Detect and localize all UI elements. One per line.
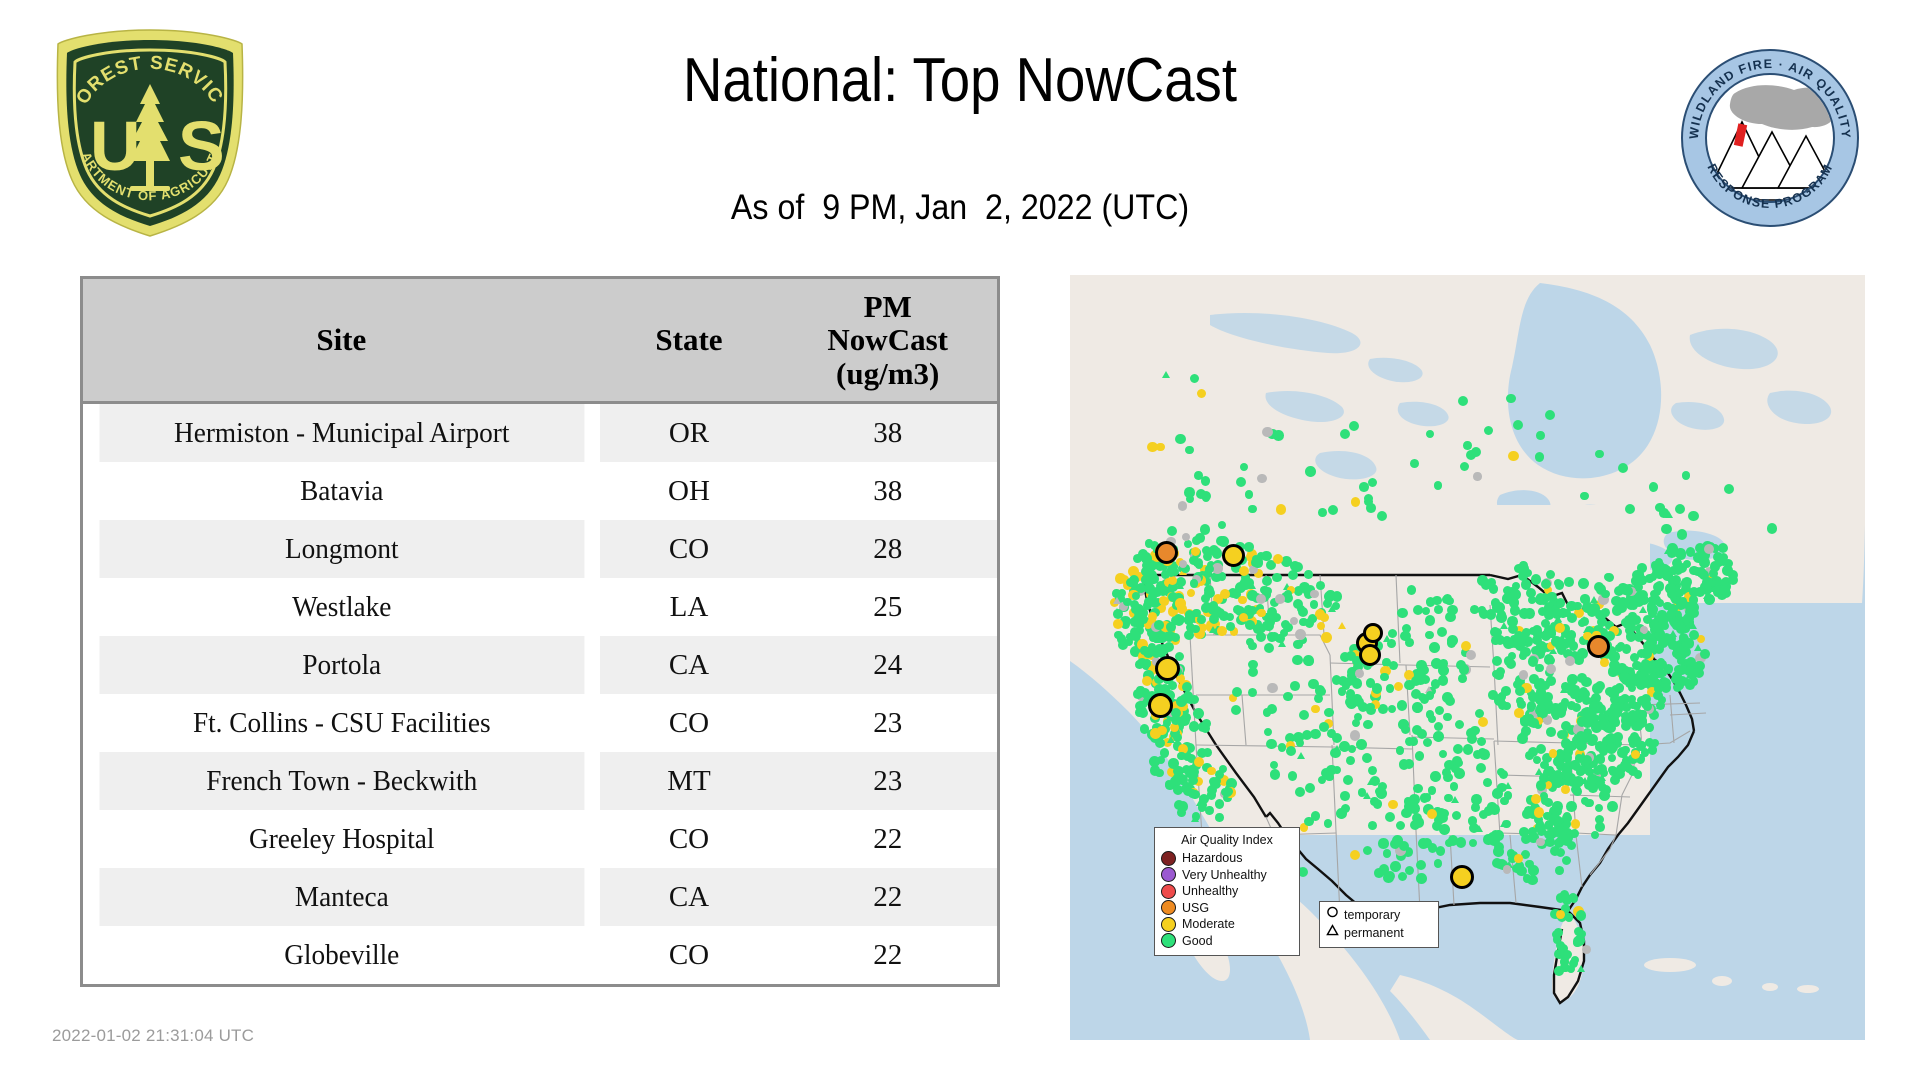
monitor-dot-good[interactable] (1492, 858, 1502, 868)
monitor-dot-good[interactable] (1411, 676, 1421, 686)
monitor-dot-good[interactable] (1445, 839, 1453, 847)
monitor-dot-good[interactable] (1251, 558, 1259, 566)
monitor-dot-good[interactable] (1290, 681, 1300, 691)
monitor-dot-good[interactable] (1215, 813, 1224, 822)
monitor-dot-good[interactable] (1492, 670, 1501, 679)
monitor-dot-good[interactable] (1577, 673, 1587, 683)
monitor-dot-moderate[interactable] (1388, 800, 1397, 809)
monitor-dot-offline[interactable] (1355, 669, 1364, 678)
monitor-dot-good[interactable] (1380, 673, 1389, 682)
monitor-dot-good[interactable] (1165, 634, 1173, 642)
monitor-dot-good[interactable] (1413, 784, 1422, 793)
monitor-dot-good[interactable] (1398, 872, 1407, 881)
monitor-dot-good[interactable] (1113, 609, 1123, 619)
monitor-dot-moderate[interactable] (1549, 749, 1557, 757)
monitor-dot-good[interactable] (1546, 727, 1556, 737)
monitor-dot-good[interactable] (1385, 812, 1395, 822)
monitor-dot-good[interactable] (1541, 681, 1550, 690)
monitor-dot-good[interactable] (1443, 773, 1453, 783)
top-site-marker-french-town-beckwith[interactable] (1222, 544, 1245, 567)
monitor-dot-good[interactable] (1356, 739, 1367, 750)
monitor-dot-moderate[interactable] (1148, 612, 1157, 621)
monitor-dot-moderate[interactable] (1631, 750, 1640, 759)
monitor-dot-good[interactable] (1551, 710, 1559, 718)
monitor-dot-offline[interactable] (1473, 472, 1481, 480)
monitor-dot-good[interactable] (1519, 652, 1527, 660)
monitor-dot-good[interactable] (1638, 677, 1649, 688)
monitor-dot-good[interactable] (1390, 861, 1401, 872)
monitor-dot-good[interactable] (1163, 719, 1171, 727)
top-site-marker-hermiston[interactable] (1155, 541, 1178, 564)
monitor-dot-good[interactable] (1200, 524, 1211, 535)
monitor-dot-good[interactable] (1471, 803, 1480, 812)
monitor-dot-good[interactable] (1487, 835, 1497, 845)
monitor-dot-good[interactable] (1388, 629, 1397, 638)
monitor-dot-good[interactable] (1487, 802, 1497, 812)
monitor-dot-good[interactable] (1248, 688, 1257, 697)
monitor-dot-good[interactable] (1185, 446, 1193, 454)
monitor-dot-good[interactable] (1388, 705, 1397, 714)
monitor-dot-good[interactable] (1190, 790, 1199, 799)
monitor-dot-good[interactable] (1628, 623, 1636, 631)
monitor-dot-moderate[interactable] (1150, 728, 1161, 739)
monitor-dot-good[interactable] (1556, 600, 1564, 608)
monitor-dot-good[interactable] (1606, 743, 1617, 754)
monitor-dot-good[interactable] (1416, 860, 1426, 870)
monitor-dot-moderate[interactable] (1321, 632, 1332, 643)
monitor-dot-good[interactable] (1700, 649, 1710, 659)
monitor-dot-good[interactable] (1608, 754, 1617, 763)
monitor-dot-good[interactable] (1569, 641, 1578, 650)
permanent-monitor-marker[interactable] (1664, 547, 1672, 554)
monitor-dot-good[interactable] (1513, 420, 1524, 431)
monitor-dot-good[interactable] (1458, 674, 1467, 683)
monitor-dot-good[interactable] (1547, 592, 1556, 601)
monitor-dot-good[interactable] (1270, 769, 1281, 780)
monitor-dot-good[interactable] (1595, 681, 1605, 691)
monitor-dot-good[interactable] (1193, 708, 1204, 719)
monitor-dot-offline[interactable] (1275, 594, 1285, 604)
monitor-dot-moderate[interactable] (1194, 757, 1204, 767)
monitor-dot-good[interactable] (1469, 839, 1477, 847)
monitor-dot-good[interactable] (1625, 504, 1635, 514)
monitor-dot-good[interactable] (1463, 744, 1474, 755)
monitor-dot-good[interactable] (1621, 746, 1630, 755)
monitor-dot-moderate[interactable] (1187, 589, 1195, 597)
monitor-dot-good[interactable] (1436, 846, 1446, 856)
monitor-dot-good[interactable] (1489, 584, 1499, 594)
monitor-dot-good[interactable] (1709, 569, 1718, 578)
monitor-dot-good[interactable] (1629, 601, 1638, 610)
monitor-dot-good[interactable] (1246, 621, 1254, 629)
monitor-dot-offline[interactable] (1178, 501, 1188, 511)
monitor-dot-good[interactable] (1363, 720, 1372, 729)
monitor-dot-good[interactable] (1362, 753, 1372, 763)
monitor-dot-moderate[interactable] (1600, 658, 1609, 667)
monitor-dot-offline[interactable] (1503, 865, 1511, 873)
monitor-dot-good[interactable] (1236, 477, 1247, 488)
monitor-dot-good[interactable] (1460, 462, 1469, 471)
monitor-dot-good[interactable] (1689, 566, 1698, 575)
monitor-dot-good[interactable] (1492, 788, 1503, 799)
monitor-dot-good[interactable] (1215, 799, 1224, 808)
monitor-dot-moderate[interactable] (1571, 819, 1581, 829)
monitor-dot-good[interactable] (1637, 563, 1647, 573)
monitor-dot-good[interactable] (1404, 759, 1414, 769)
monitor-dot-good[interactable] (1354, 713, 1362, 721)
monitor-dot-good[interactable] (1444, 794, 1452, 802)
monitor-dot-good[interactable] (1359, 482, 1369, 492)
monitor-dot-good[interactable] (1139, 659, 1148, 668)
permanent-monitor-marker[interactable] (1113, 597, 1121, 604)
monitor-dot-good[interactable] (1661, 524, 1672, 535)
monitor-dot-good[interactable] (1130, 631, 1141, 642)
monitor-dot-good[interactable] (1114, 631, 1123, 640)
monitor-dot-good[interactable] (1248, 505, 1256, 513)
monitor-dot-good[interactable] (1491, 636, 1500, 645)
monitor-dot-good[interactable] (1304, 570, 1313, 579)
monitor-dot-good[interactable] (1192, 812, 1200, 820)
monitor-dot-good[interactable] (1332, 675, 1341, 684)
monitor-dot-good[interactable] (1677, 529, 1688, 540)
monitor-dot-good[interactable] (1562, 894, 1573, 905)
monitor-dot-good[interactable] (1562, 766, 1572, 776)
monitor-dot-good[interactable] (1533, 630, 1543, 640)
monitor-dot-good[interactable] (1562, 813, 1572, 823)
monitor-dot-good[interactable] (1368, 478, 1378, 488)
monitor-dot-good[interactable] (1195, 533, 1204, 542)
monitor-dot-good[interactable] (1443, 713, 1452, 722)
monitor-dot-good[interactable] (1154, 620, 1164, 630)
monitor-dot-good[interactable] (1454, 768, 1465, 779)
monitor-dot-good[interactable] (1577, 648, 1588, 659)
monitor-dot-good[interactable] (1621, 721, 1631, 731)
monitor-dot-good[interactable] (1232, 687, 1242, 697)
monitor-dot-good[interactable] (1439, 750, 1448, 759)
monitor-dot-moderate[interactable] (1175, 598, 1186, 609)
monitor-dot-moderate[interactable] (1311, 705, 1319, 713)
monitor-dot-good[interactable] (1155, 738, 1165, 748)
monitor-dot-good[interactable] (1470, 726, 1480, 736)
top-site-marker-portola[interactable] (1155, 656, 1180, 681)
monitor-dot-good[interactable] (1296, 739, 1304, 747)
monitor-dot-good[interactable] (1383, 849, 1392, 858)
permanent-monitor-marker[interactable] (1154, 636, 1162, 643)
monitor-dot-good[interactable] (1209, 614, 1219, 624)
permanent-monitor-marker[interactable] (1152, 562, 1160, 569)
monitor-dot-good[interactable] (1218, 521, 1226, 529)
monitor-dot-good[interactable] (1194, 471, 1203, 480)
monitor-dot-good[interactable] (1652, 678, 1660, 686)
monitor-dot-good[interactable] (1445, 597, 1454, 606)
monitor-dot-good[interactable] (1630, 732, 1639, 741)
permanent-monitor-marker[interactable] (1665, 511, 1673, 518)
monitor-dot-good[interactable] (1463, 441, 1471, 449)
monitor-dot-good[interactable] (1377, 511, 1387, 521)
monitor-dot-moderate[interactable] (1257, 609, 1265, 617)
monitor-dot-good[interactable] (1437, 808, 1446, 817)
monitor-dot-moderate[interactable] (1159, 596, 1168, 605)
monitor-dot-good[interactable] (1182, 713, 1191, 722)
monitor-dot-good[interactable] (1595, 804, 1603, 812)
monitor-dot-good[interactable] (1389, 661, 1398, 670)
monitor-dot-good[interactable] (1146, 570, 1156, 580)
monitor-dot-good[interactable] (1688, 671, 1697, 680)
monitor-dot-good[interactable] (1468, 816, 1478, 826)
monitor-dot-good[interactable] (1248, 606, 1257, 615)
monitor-dot-good[interactable] (1222, 788, 1231, 797)
monitor-dot-moderate[interactable] (1273, 554, 1283, 564)
monitor-dot-good[interactable] (1346, 756, 1355, 765)
permanent-monitor-marker[interactable] (1333, 745, 1341, 752)
monitor-dot-moderate[interactable] (1478, 717, 1488, 727)
monitor-dot-good[interactable] (1348, 745, 1356, 753)
monitor-dot-good[interactable] (1190, 374, 1199, 383)
monitor-dot-good[interactable] (1677, 657, 1685, 665)
monitor-dot-good[interactable] (1368, 821, 1377, 830)
monitor-dot-good[interactable] (1609, 767, 1618, 776)
monitor-dot-good[interactable] (1618, 583, 1627, 592)
monitor-dot-good[interactable] (1379, 864, 1389, 874)
monitor-dot-good[interactable] (1422, 607, 1430, 615)
monitor-dot-good[interactable] (1198, 722, 1208, 732)
monitor-dot-good[interactable] (1561, 952, 1569, 960)
monitor-dot-good[interactable] (1456, 837, 1467, 848)
monitor-dot-good[interactable] (1387, 639, 1396, 648)
monitor-dot-good[interactable] (1536, 431, 1544, 439)
monitor-dot-good[interactable] (1264, 728, 1272, 736)
monitor-dot-good[interactable] (1226, 622, 1235, 631)
monitor-dot-good[interactable] (1445, 696, 1455, 706)
monitor-dot-good[interactable] (1288, 570, 1298, 580)
monitor-dot-good[interactable] (1595, 815, 1604, 824)
monitor-dot-moderate[interactable] (1317, 622, 1326, 631)
monitor-dot-moderate[interactable] (1561, 785, 1570, 794)
monitor-dot-moderate[interactable] (1531, 794, 1541, 804)
monitor-dot-good[interactable] (1681, 647, 1691, 657)
monitor-dot-good[interactable] (1295, 787, 1305, 797)
monitor-dot-good[interactable] (1286, 746, 1296, 756)
monitor-dot-good[interactable] (1665, 583, 1676, 594)
monitor-dot-offline[interactable] (1582, 945, 1591, 954)
monitor-dot-good[interactable] (1430, 771, 1441, 782)
monitor-dot-good[interactable] (1531, 574, 1541, 584)
monitor-dot-good[interactable] (1212, 548, 1222, 558)
monitor-dot-good[interactable] (1518, 571, 1528, 581)
monitor-dot-good[interactable] (1506, 659, 1516, 669)
monitor-dot-good[interactable] (1349, 421, 1360, 432)
monitor-dot-good[interactable] (1425, 615, 1435, 625)
monitor-dot-good[interactable] (1673, 683, 1682, 692)
monitor-dot-good[interactable] (1656, 599, 1664, 607)
monitor-dot-good[interactable] (1567, 613, 1577, 623)
monitor-dot-offline[interactable] (1546, 664, 1556, 674)
monitor-dot-good[interactable] (1722, 565, 1733, 576)
monitor-dot-moderate[interactable] (1197, 389, 1206, 398)
monitor-dot-good[interactable] (1767, 523, 1777, 533)
monitor-dot-good[interactable] (1682, 471, 1690, 479)
monitor-dot-good[interactable] (1299, 582, 1309, 592)
national-aqi-map[interactable]: Air Quality Index Hazardous Very Unhealt… (1070, 275, 1865, 1040)
top-site-marker-westlake[interactable] (1450, 865, 1474, 889)
permanent-monitor-marker[interactable] (1500, 622, 1508, 629)
monitor-dot-good[interactable] (1589, 603, 1600, 614)
monitor-dot-offline[interactable] (1536, 838, 1545, 847)
monitor-dot-good[interactable] (1177, 775, 1187, 785)
monitor-dot-good[interactable] (1587, 774, 1598, 785)
monitor-dot-good[interactable] (1177, 752, 1185, 760)
monitor-dot-good[interactable] (1328, 505, 1338, 515)
monitor-dot-good[interactable] (1273, 430, 1284, 441)
monitor-dot-good[interactable] (1437, 627, 1447, 637)
monitor-dot-good[interactable] (1557, 826, 1568, 837)
monitor-dot-good[interactable] (1615, 683, 1625, 693)
monitor-dot-good[interactable] (1340, 791, 1350, 801)
monitor-dot-good[interactable] (1565, 913, 1574, 922)
monitor-dot-good[interactable] (1407, 585, 1417, 595)
monitor-dot-good[interactable] (1649, 482, 1659, 492)
monitor-dot-good[interactable] (1572, 762, 1581, 771)
monitor-dot-good[interactable] (1660, 564, 1668, 572)
monitor-dot-good[interactable] (1605, 687, 1614, 696)
monitor-dot-good[interactable] (1425, 631, 1433, 639)
monitor-dot-good[interactable] (1155, 769, 1163, 777)
monitor-dot-good[interactable] (1188, 776, 1198, 786)
monitor-dot-good[interactable] (1653, 691, 1662, 700)
permanent-monitor-marker[interactable] (1176, 582, 1184, 589)
monitor-dot-good[interactable] (1178, 801, 1188, 811)
monitor-dot-good[interactable] (1366, 503, 1376, 513)
monitor-dot-good[interactable] (1428, 715, 1436, 723)
monitor-dot-good[interactable] (1149, 756, 1160, 767)
monitor-dot-moderate[interactable] (1276, 504, 1286, 514)
top-site-marker-greeley-hospital[interactable] (1363, 623, 1383, 643)
monitor-dot-good[interactable] (1245, 490, 1254, 499)
monitor-dot-moderate[interactable] (1350, 850, 1361, 861)
monitor-dot-good[interactable] (1316, 581, 1325, 590)
monitor-dot-good[interactable] (1605, 573, 1614, 582)
permanent-monitor-marker[interactable] (1639, 606, 1647, 613)
monitor-dot-good[interactable] (1522, 809, 1532, 819)
monitor-dot-good[interactable] (1622, 644, 1631, 653)
monitor-dot-good[interactable] (1270, 761, 1278, 769)
monitor-dot-good[interactable] (1536, 593, 1545, 602)
monitor-dot-good[interactable] (1718, 543, 1728, 553)
monitor-dot-good[interactable] (1556, 752, 1565, 761)
monitor-dot-offline[interactable] (1295, 629, 1306, 640)
monitor-dot-good[interactable] (1262, 576, 1272, 586)
permanent-monitor-marker[interactable] (1338, 622, 1346, 629)
monitor-dot-offline[interactable] (1565, 656, 1575, 666)
monitor-dot-good[interactable] (1266, 739, 1276, 749)
monitor-dot-good[interactable] (1432, 821, 1442, 831)
monitor-dot-good[interactable] (1491, 598, 1501, 608)
monitor-dot-good[interactable] (1419, 665, 1430, 676)
monitor-dot-good[interactable] (1176, 696, 1187, 707)
monitor-dot-good[interactable] (1305, 466, 1316, 477)
monitor-dot-good[interactable] (1434, 481, 1442, 489)
monitor-dot-good[interactable] (1310, 729, 1321, 740)
monitor-dot-good[interactable] (1240, 463, 1248, 471)
monitor-dot-good[interactable] (1715, 559, 1723, 567)
monitor-dot-good[interactable] (1373, 799, 1382, 808)
monitor-dot-good[interactable] (1681, 580, 1691, 590)
monitor-dot-good[interactable] (1675, 504, 1685, 514)
monitor-dot-good[interactable] (1412, 702, 1423, 713)
monitor-dot-good[interactable] (1271, 613, 1281, 623)
monitor-dot-good[interactable] (1618, 463, 1628, 473)
monitor-dot-good[interactable] (1314, 694, 1323, 703)
monitor-dot-good[interactable] (1546, 570, 1555, 579)
monitor-dot-good[interactable] (1173, 733, 1182, 742)
monitor-dot-good[interactable] (1554, 966, 1564, 976)
monitor-dot-good[interactable] (1431, 658, 1442, 669)
permanent-monitor-marker[interactable] (1363, 792, 1371, 799)
permanent-monitor-marker[interactable] (1475, 825, 1483, 832)
monitor-dot-good[interactable] (1445, 612, 1455, 622)
monitor-dot-good[interactable] (1167, 526, 1177, 536)
monitor-dot-good[interactable] (1186, 495, 1194, 503)
monitor-dot-good[interactable] (1666, 634, 1676, 644)
monitor-dot-good[interactable] (1283, 623, 1292, 632)
monitor-dot-good[interactable] (1311, 811, 1321, 821)
monitor-dot-good[interactable] (1455, 720, 1464, 729)
monitor-dot-good[interactable] (1132, 592, 1140, 600)
monitor-dot-good[interactable] (1205, 565, 1214, 574)
monitor-dot-good[interactable] (1648, 745, 1657, 754)
permanent-monitor-marker[interactable] (1297, 752, 1305, 759)
monitor-dot-good[interactable] (1724, 484, 1734, 494)
monitor-dot-good[interactable] (1453, 744, 1463, 754)
monitor-dot-good[interactable] (1212, 777, 1220, 785)
monitor-dot-good[interactable] (1554, 928, 1563, 937)
monitor-dot-good[interactable] (1136, 686, 1145, 695)
monitor-dot-good[interactable] (1434, 859, 1442, 867)
monitor-dot-offline[interactable] (1262, 427, 1272, 437)
monitor-dot-good[interactable] (1164, 642, 1174, 652)
monitor-dot-good[interactable] (1685, 602, 1695, 612)
monitor-dot-good[interactable] (1484, 426, 1494, 436)
monitor-dot-good[interactable] (1610, 775, 1620, 785)
monitor-dot-good[interactable] (1545, 410, 1555, 420)
monitor-dot-moderate[interactable] (1238, 596, 1246, 604)
monitor-dot-good[interactable] (1515, 686, 1525, 696)
monitor-dot-good[interactable] (1202, 494, 1210, 502)
monitor-dot-good[interactable] (1702, 577, 1713, 588)
permanent-monitor-marker[interactable] (1500, 820, 1508, 827)
monitor-dot-good[interactable] (1378, 838, 1388, 848)
monitor-dot-good[interactable] (1494, 695, 1505, 706)
monitor-dot-good[interactable] (1343, 775, 1353, 785)
monitor-dot-good[interactable] (1205, 806, 1213, 814)
top-site-marker-batavia[interactable] (1587, 635, 1610, 658)
top-site-marker-longmont[interactable] (1359, 644, 1381, 666)
monitor-dot-moderate[interactable] (1427, 809, 1438, 820)
monitor-dot-good[interactable] (1503, 638, 1514, 649)
monitor-dot-good[interactable] (1372, 683, 1382, 693)
monitor-dot-good[interactable] (1171, 715, 1181, 725)
monitor-dot-good[interactable] (1241, 579, 1252, 590)
monitor-dot-good[interactable] (1649, 573, 1657, 581)
monitor-dot-good[interactable] (1191, 625, 1199, 633)
monitor-dot-good[interactable] (1160, 748, 1170, 758)
monitor-dot-good[interactable] (1292, 655, 1303, 666)
monitor-dot-good[interactable] (1318, 508, 1327, 517)
monitor-dot-good[interactable] (1612, 708, 1622, 718)
monitor-dot-good[interactable] (1675, 548, 1686, 559)
monitor-dot-good[interactable] (1397, 700, 1407, 710)
permanent-monitor-marker[interactable] (1554, 615, 1562, 622)
